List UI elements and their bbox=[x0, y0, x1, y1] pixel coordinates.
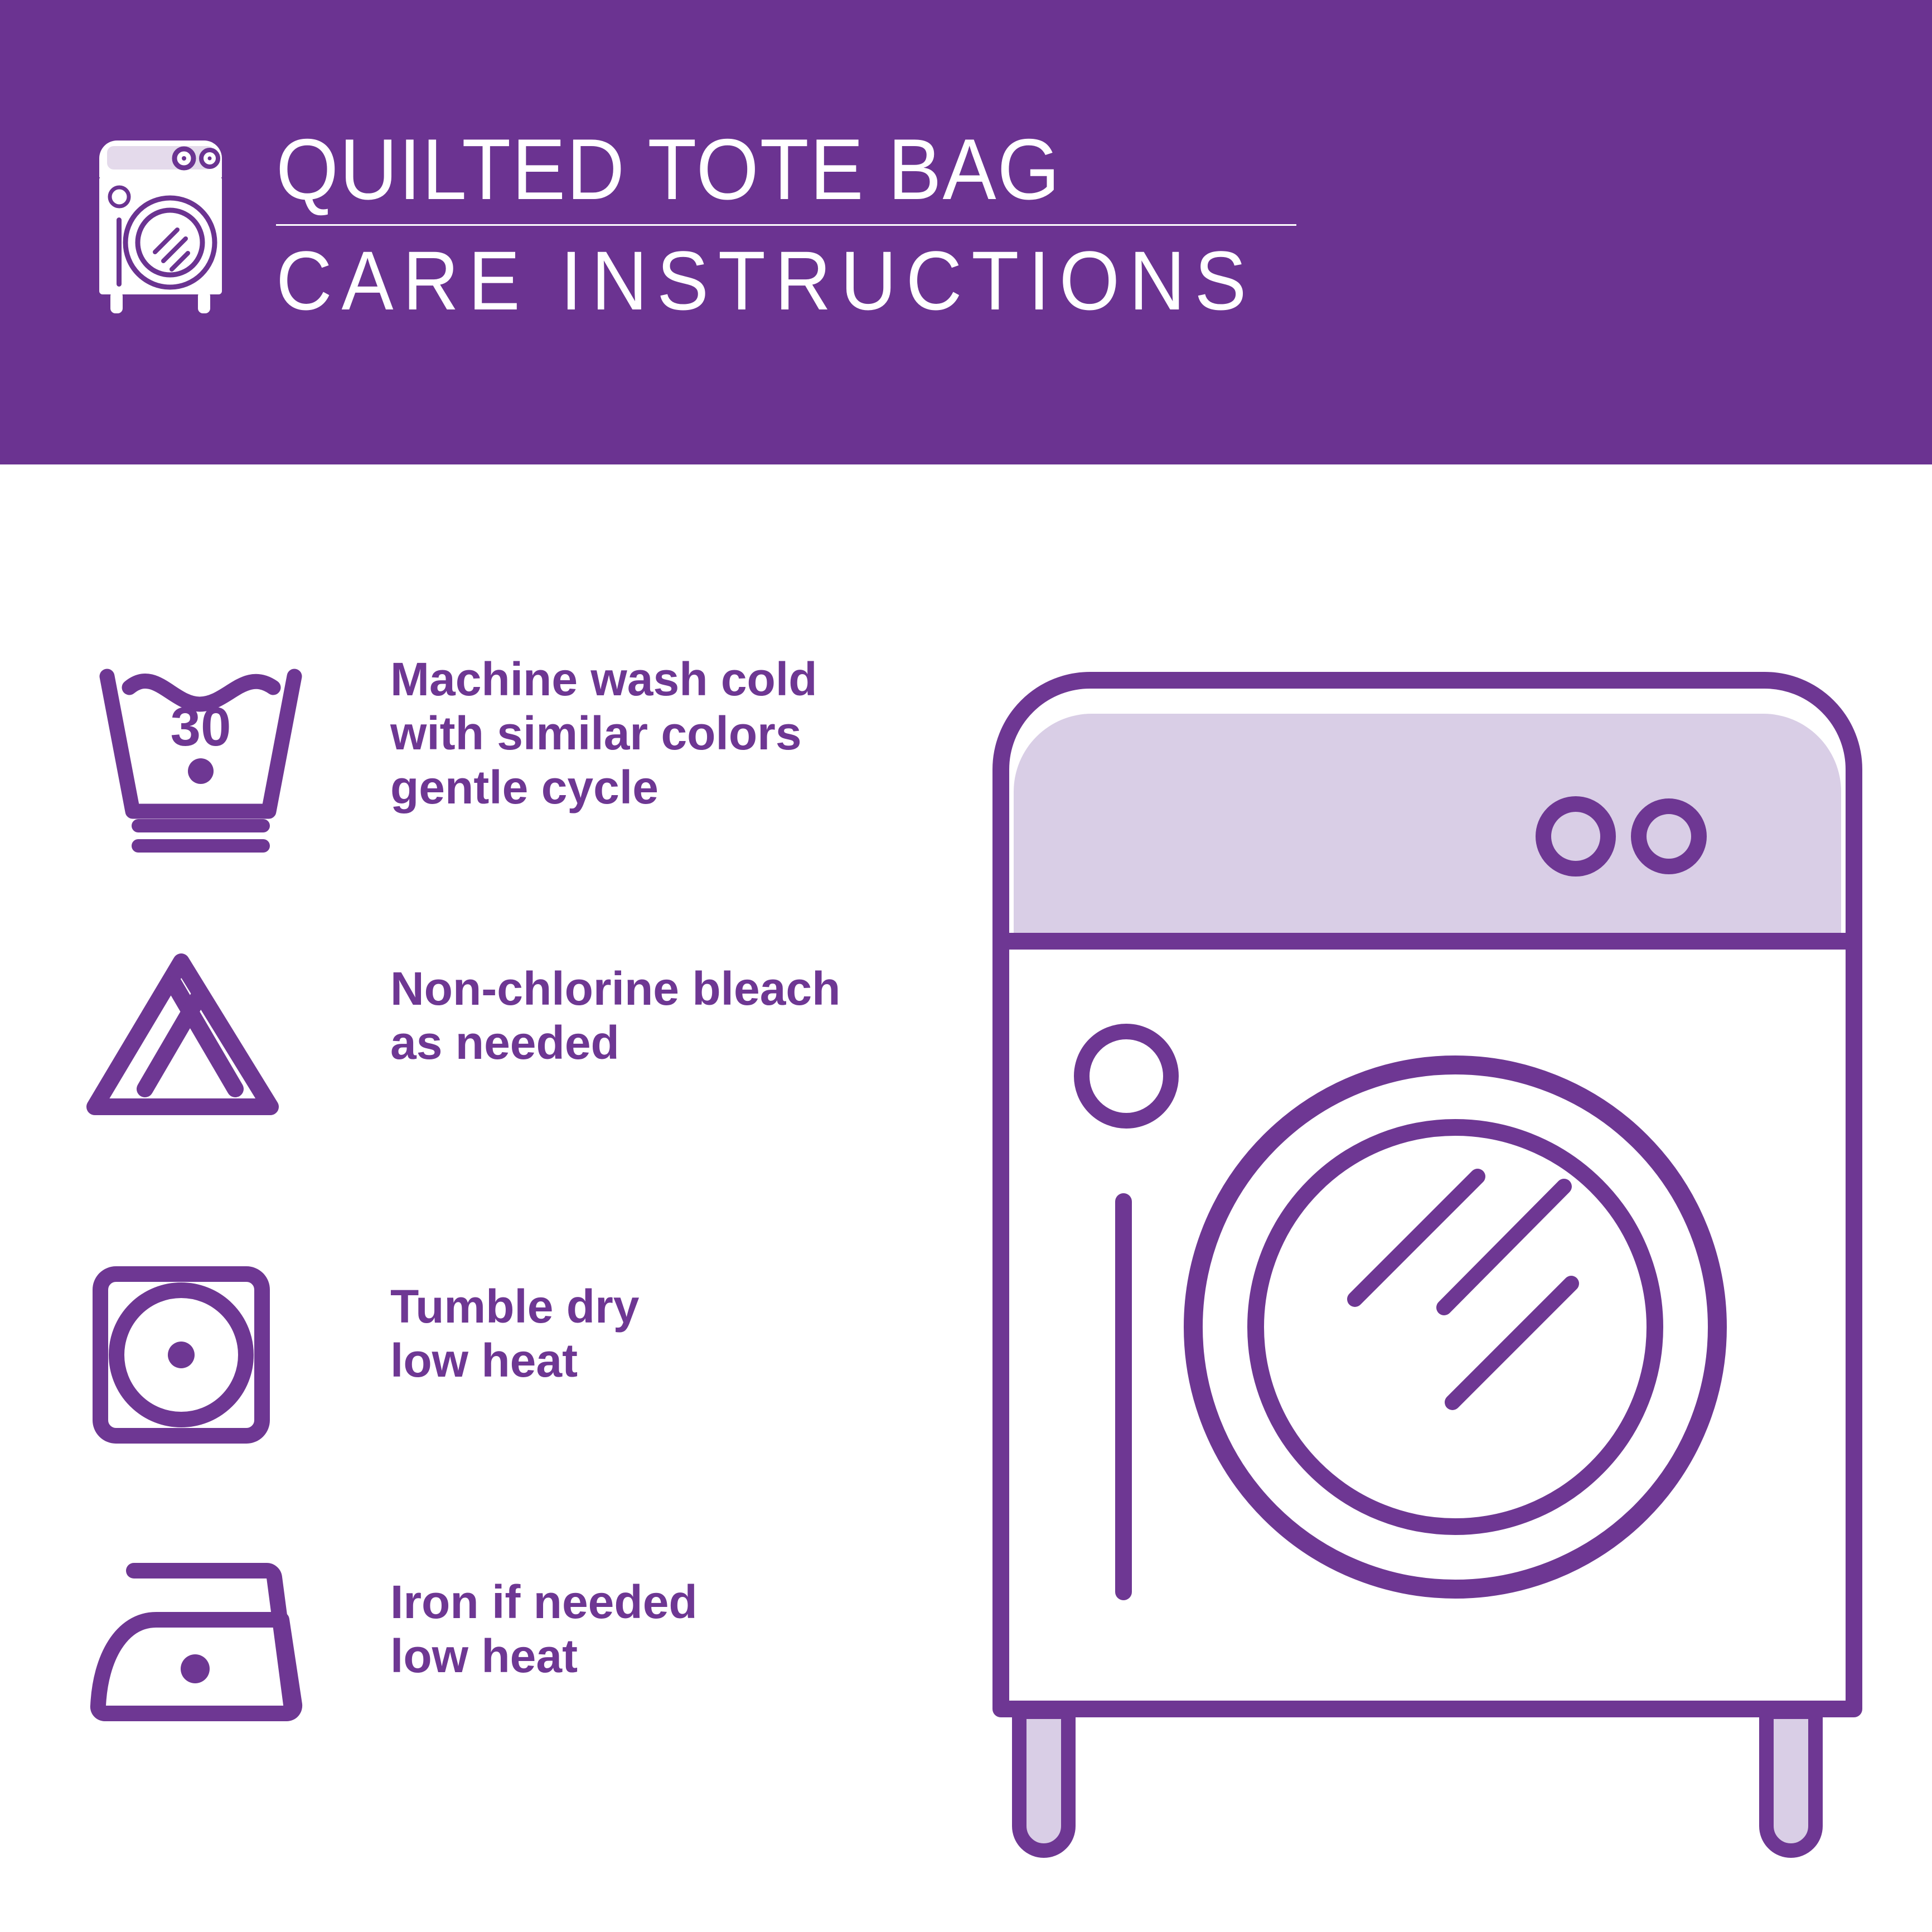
header-band: QUILTED TOTE BAG CARE INSTRUCTIONS bbox=[0, 0, 1932, 464]
care-label-line: low heat bbox=[390, 1629, 903, 1683]
care-item-label: Iron if needed low heat bbox=[390, 1575, 903, 1683]
care-label-line: as needed bbox=[390, 1016, 903, 1070]
iron-low-heat-icon bbox=[89, 1539, 312, 1762]
care-label-line: Iron if needed bbox=[390, 1575, 903, 1629]
header-content: QUILTED TOTE BAG CARE INSTRUCTIONS bbox=[78, 128, 1360, 362]
front-load-washing-machine-illustration bbox=[948, 624, 1907, 1879]
wash-tub-30-gentle-icon: 30 bbox=[89, 641, 312, 864]
washing-machine-icon bbox=[78, 134, 245, 318]
leg-left bbox=[1019, 1712, 1068, 1851]
title-divider bbox=[276, 224, 1296, 226]
care-item-label: Non-chlorine bleach as needed bbox=[390, 962, 903, 1070]
care-label-line: Non-chlorine bleach bbox=[390, 962, 903, 1016]
page-subtitle: CARE INSTRUCTIONS bbox=[276, 236, 1251, 325]
vertical-handle-bar bbox=[1115, 1193, 1132, 1600]
care-label-line: with similar colors bbox=[390, 706, 903, 761]
care-label-line: Tumble dry bbox=[390, 1280, 903, 1334]
care-item-label: Tumble dry low heat bbox=[390, 1280, 903, 1388]
non-chlorine-bleach-triangle-icon bbox=[89, 926, 312, 1149]
tumble-dry-low-heat-icon bbox=[89, 1243, 312, 1466]
care-label-line: Machine wash cold bbox=[390, 652, 903, 706]
header-titles: QUILTED TOTE BAG CARE INSTRUCTIONS bbox=[276, 123, 1324, 325]
leg-right bbox=[1766, 1712, 1815, 1851]
care-label-line: low heat bbox=[390, 1334, 903, 1388]
knob-left bbox=[1543, 804, 1608, 869]
care-item-machine-wash: 30 Machine wash cold with similar colors… bbox=[0, 641, 903, 903]
care-item-iron: Iron if needed low heat bbox=[0, 1539, 903, 1801]
page-title: QUILTED TOTE BAG bbox=[276, 123, 1251, 216]
knob-right bbox=[1639, 806, 1699, 866]
care-item-bleach: Non-chlorine bleach as needed bbox=[0, 926, 903, 1188]
control-panel bbox=[1014, 714, 1841, 934]
care-item-label: Machine wash cold with similar colors ge… bbox=[390, 652, 903, 815]
care-item-tumble-dry: Tumble dry low heat bbox=[0, 1243, 903, 1505]
wash-temperature-value: 30 bbox=[170, 696, 231, 757]
care-label-line: gentle cycle bbox=[390, 761, 903, 815]
